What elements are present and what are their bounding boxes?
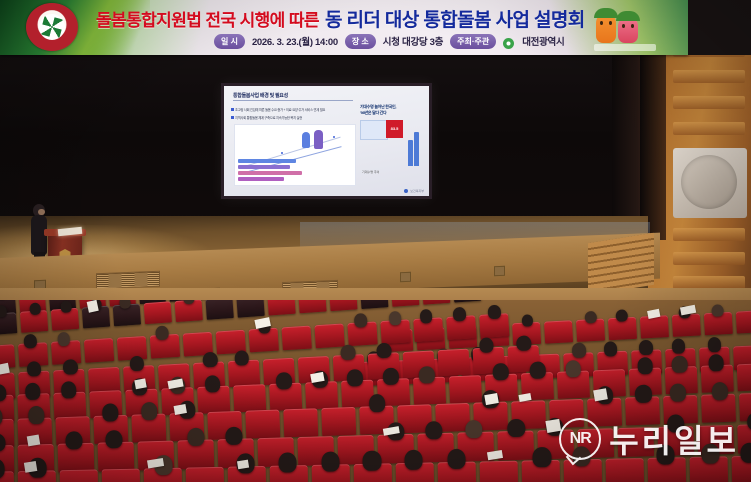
attendee <box>672 355 688 372</box>
attendee <box>354 313 368 327</box>
attendee <box>25 382 41 399</box>
attendee <box>419 309 433 323</box>
attendee <box>24 334 38 348</box>
event-banner: 돌봄통합지원법 전국 시행에 따른 동 리더 대상 통합돌봄 사업 설명회 일 … <box>0 0 688 55</box>
attendee <box>29 303 41 315</box>
attendee <box>368 394 385 412</box>
attendee <box>105 430 123 449</box>
wall-acoustic-disc <box>673 148 747 218</box>
projection-screen: 통합돌봄사업 배경 및 필요성 초고령 사회 진입에 따른 돌봄 수요 증가 +… <box>221 83 432 199</box>
slide-title-rule <box>233 100 353 101</box>
banner-title-line1: 돌봄통합지원법 전국 시행에 따른 <box>96 6 319 31</box>
auditorium-seat <box>438 349 470 376</box>
attendee <box>530 361 546 378</box>
auditorium-seat <box>186 467 225 482</box>
wall-vent-grille <box>96 271 160 289</box>
handout-document <box>237 459 249 469</box>
attendee <box>465 420 483 439</box>
attendee <box>711 382 728 400</box>
mascot-orange-icon <box>596 13 616 43</box>
banner-right-shadow <box>688 0 751 55</box>
auditorium-seat <box>205 300 233 320</box>
attendee <box>493 363 509 380</box>
attendee <box>635 385 652 403</box>
attendee <box>155 325 169 339</box>
banner-meta-value-place: 시청 대강당 3층 <box>383 34 443 48</box>
auditorium-seat <box>245 410 280 439</box>
attendee <box>129 355 144 371</box>
conference-photo: 돌봄통합지원법 전국 시행에 따른 동 리더 대상 통합돌봄 사업 설명회 일 … <box>0 0 751 482</box>
banner-meta-value-host: 대전광역시 <box>522 34 564 48</box>
attendee <box>616 309 628 322</box>
banner-meta-label-date: 일 시 <box>214 34 245 49</box>
attendee <box>28 406 45 424</box>
attendee <box>479 337 494 353</box>
auditorium-seat <box>298 300 326 313</box>
auditorium-seat <box>84 338 114 363</box>
attendee <box>187 427 205 446</box>
auditorium-seat <box>321 407 356 436</box>
slide-line-chart <box>234 124 356 186</box>
nuri-logo-icon: NR <box>559 418 601 460</box>
banner-title-line2: 동 리더 대상 통합돌봄 사업 설명회 <box>325 5 585 32</box>
attendee <box>637 357 653 374</box>
banner-title: 돌봄통합지원법 전국 시행에 따른 동 리더 대상 통합돌봄 사업 설명회 <box>96 4 626 32</box>
stage-stairs <box>588 233 654 295</box>
attendee <box>404 450 422 470</box>
slide-footer-logo: 보건복지부 <box>404 188 424 193</box>
presentation-slide: 통합돌봄사업 배경 및 필요성 초고령 사회 진입에 따른 돌봄 수요 증가 +… <box>224 86 429 196</box>
slide-right-highlight: 83.5 <box>386 120 403 138</box>
attendee <box>708 354 724 371</box>
slide-figure-purple <box>314 130 323 149</box>
auditorium-seat <box>391 300 419 307</box>
auditorium-seat <box>360 300 388 309</box>
auditorium-seat <box>544 320 573 344</box>
auditorium-seat <box>281 326 311 351</box>
auditorium-seat <box>144 301 172 324</box>
attendee <box>671 339 685 354</box>
attendee <box>425 421 443 440</box>
attendee <box>447 449 465 469</box>
auditorium-seat <box>283 408 318 437</box>
daejeon-logo-icon <box>503 38 514 49</box>
wall-outlet-panel <box>400 272 411 282</box>
attendee <box>388 311 402 325</box>
banner-meta-label-host: 주최·주관 <box>450 34 496 49</box>
auditorium-seat <box>236 300 264 318</box>
attendee <box>65 431 83 450</box>
auditorium-seat <box>329 300 357 311</box>
auditorium-seat <box>453 300 481 303</box>
attendee <box>276 372 292 389</box>
attendee <box>278 452 296 472</box>
slide-right-highlight-value: 83.5 <box>386 126 403 131</box>
slide-right-box <box>360 120 388 140</box>
attendee <box>584 310 596 323</box>
handout-document <box>27 434 41 446</box>
attendee <box>453 307 467 321</box>
auditorium-seat <box>449 375 482 403</box>
mascot-group <box>594 2 660 52</box>
attendee <box>419 366 435 383</box>
attendee <box>572 343 586 358</box>
attendee <box>383 367 399 384</box>
attendee <box>225 426 243 445</box>
daejeon-city-emblem-icon <box>26 3 78 51</box>
watermark-outlet-name: 누리일보 <box>609 416 739 462</box>
attendee <box>141 402 158 420</box>
auditorium-seat <box>737 363 751 391</box>
press-watermark: NR 누리일보 <box>559 416 739 462</box>
auditorium-seat <box>314 323 344 348</box>
attendee <box>340 344 355 360</box>
banner-meta-value-date: 2026. 3. 23.(월) 14:00 <box>252 34 338 48</box>
wall-outlet-panel <box>494 266 505 276</box>
attendee <box>63 359 78 375</box>
watermark-initials: NR <box>570 430 591 448</box>
attendee <box>57 332 71 346</box>
attendee <box>202 351 217 367</box>
banner-meta-label-place: 장 소 <box>345 34 376 49</box>
attendee <box>60 300 72 312</box>
attendee <box>321 451 339 471</box>
attendee <box>670 384 687 402</box>
banner-meta: 일 시 2026. 3. 23.(월) 14:00 장 소 시청 대강당 3층 … <box>214 33 564 49</box>
handout-document <box>87 300 99 312</box>
attendee <box>639 340 653 355</box>
attendee <box>533 447 551 467</box>
attendee <box>740 443 751 463</box>
attendee <box>507 418 525 437</box>
attendee <box>26 361 41 377</box>
auditorium-seat <box>640 315 669 339</box>
attendee <box>347 369 363 386</box>
attendee <box>61 381 77 398</box>
attendee <box>488 304 502 318</box>
slide-right-caption: 기대수명 추이 <box>362 170 379 174</box>
auditorium-seat <box>233 384 266 412</box>
auditorium-seat <box>267 300 295 316</box>
auditorium-seat <box>736 310 751 334</box>
attendee <box>516 335 531 351</box>
attendee <box>102 403 119 421</box>
auditorium-seat <box>60 469 99 482</box>
attendee <box>376 342 391 358</box>
slide-figure-blue <box>302 132 310 148</box>
slide-bullet-2: 지역사회 통합돌봄 체계 구축으로 지속가능한 복지 실현 <box>235 115 302 120</box>
slide-bullet-1: 초고령 사회 진입에 따른 돌봄 수요 증가 + 의료·요양·주거 서비스 연계… <box>235 107 325 112</box>
auditorium-seat <box>480 461 519 482</box>
slide-right-panel: 기대수명 늘어난 한국인, '98년은 달다 간다 83.5 기대수명 추이 <box>360 104 422 182</box>
attendee <box>565 360 581 377</box>
mascot-caption <box>594 44 656 51</box>
slide-right-headline-2: '98년은 달다 간다 <box>360 110 422 116</box>
handout-document <box>24 461 37 473</box>
attendee <box>204 375 220 392</box>
attendee <box>707 337 721 352</box>
attendee <box>363 450 381 470</box>
auditorium-seat <box>102 469 141 482</box>
attendee <box>604 341 618 356</box>
mascot-pink-icon <box>618 16 638 43</box>
slide-title: 통합돌봄사업 배경 및 필요성 <box>233 92 288 99</box>
auditorium-seat <box>422 300 450 305</box>
